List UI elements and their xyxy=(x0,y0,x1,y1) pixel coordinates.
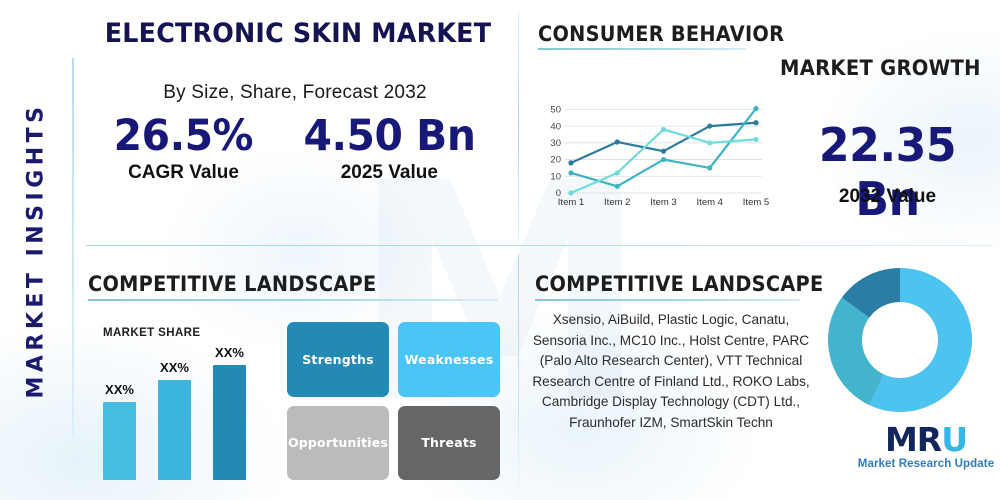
svg-text:30: 30 xyxy=(550,138,561,149)
svg-text:Item 3: Item 3 xyxy=(650,197,676,208)
donut-segments xyxy=(828,268,972,412)
donut-segment-2 xyxy=(828,298,884,405)
svg-text:10: 10 xyxy=(550,171,561,182)
stat-2025-value: 4.50 Bn xyxy=(303,114,475,159)
swot-matrix: StrengthsWeaknessesOpportunitiesThreats xyxy=(287,322,500,480)
market-share-donut-chart xyxy=(826,266,974,419)
market-growth-label: 2032 Value xyxy=(780,186,995,208)
consumer-behavior-line-chart: 01020304050 Item 1Item 2Item 3Item 4Item… xyxy=(535,95,770,218)
market-share-bar-chart: XX%XX%XX% xyxy=(103,345,268,480)
market-share-bar-2: XX% xyxy=(158,345,191,480)
line-chart-svg: 01020304050 Item 1Item 2Item 3Item 4Item… xyxy=(535,95,770,213)
market-share-title: MARKET SHARE xyxy=(103,327,200,339)
horizontal-divider xyxy=(86,245,992,246)
svg-text:Item 5: Item 5 xyxy=(743,197,769,208)
swot-cell-threats[interactable]: Threats xyxy=(398,406,500,481)
line-chart-x-tick-labels: Item 1Item 2Item 3Item 4Item 5 xyxy=(558,197,769,208)
logo-mark-accent: U xyxy=(941,420,967,459)
svg-text:Item 2: Item 2 xyxy=(604,197,630,208)
vertical-divider-bottom xyxy=(518,255,519,487)
rail-label: MARKET INSIGHTS xyxy=(24,102,49,398)
logo-wordmark: MRU xyxy=(885,423,967,457)
swot-cell-weaknesses[interactable]: Weaknesses xyxy=(398,322,500,397)
swot-cell-strengths[interactable]: Strengths xyxy=(287,322,389,397)
market-insights-rail: MARKET INSIGHTS xyxy=(0,0,72,500)
market-share-bar-1: XX% xyxy=(103,345,136,480)
market-share-bar-label-2: XX% xyxy=(160,360,189,375)
svg-text:Item 4: Item 4 xyxy=(697,197,723,208)
section-heading-competitive-landscape-right: COMPETITIVE LANDSCAPE xyxy=(535,272,823,296)
section-rule-competitive-landscape-left xyxy=(88,299,498,301)
page-title: ELECTRONIC SKIN MARKET xyxy=(101,18,496,49)
market-share-bar-rect-1 xyxy=(103,402,136,480)
market-share-bar-3: XX% xyxy=(213,345,246,480)
market-share-bar-rect-2 xyxy=(158,380,191,480)
line-chart-series xyxy=(568,106,758,196)
rail-divider xyxy=(72,58,74,438)
svg-text:Item 1: Item 1 xyxy=(558,197,584,208)
svg-text:50: 50 xyxy=(550,105,561,116)
stat-2025-label: 2025 Value xyxy=(299,162,480,184)
section-heading-consumer-behavior: CONSUMER BEHAVIOR xyxy=(538,22,784,46)
stat-2025: 4.50 Bn 2025 Value xyxy=(299,114,480,184)
hero-stats-block: By Size, Share, Forecast 2032 26.5% CAGR… xyxy=(80,82,510,184)
market-share-bar-label-3: XX% xyxy=(215,345,244,360)
infographic-canvas: M MARKET INSIGHTS ELECTRONIC SKIN MARKET… xyxy=(0,0,1000,500)
section-rule-consumer-behavior xyxy=(538,48,746,50)
stat-cagr: 26.5% CAGR Value xyxy=(110,114,257,184)
logo-mark-primary: MR xyxy=(885,420,941,459)
company-list: Xsensio, AiBuild, Plastic Logic, Canatu,… xyxy=(530,310,812,433)
section-rule-competitive-landscape-right xyxy=(535,299,800,301)
market-growth-value: 22.35 Bn xyxy=(784,118,990,226)
market-share-bar-label-1: XX% xyxy=(105,382,134,397)
page-subtitle: By Size, Share, Forecast 2032 xyxy=(80,82,510,104)
vertical-divider-top xyxy=(518,12,519,240)
section-heading-competitive-landscape-left: COMPETITIVE LANDSCAPE xyxy=(88,272,376,296)
svg-text:40: 40 xyxy=(550,121,561,132)
donut-chart-svg xyxy=(826,266,974,414)
logo-tagline: Market Research Update xyxy=(856,458,996,470)
market-share-bar-rect-3 xyxy=(213,365,246,480)
brand-logo: MRU Market Research Update xyxy=(856,423,996,470)
svg-text:20: 20 xyxy=(550,155,561,166)
market-growth-heading: MARKET GROWTH xyxy=(780,56,981,80)
line-chart-y-tick-labels: 01020304050 xyxy=(550,105,561,200)
stat-cagr-value: 26.5% xyxy=(114,114,253,159)
swot-cell-opportunities[interactable]: Opportunities xyxy=(287,406,389,481)
stat-cagr-label: CAGR Value xyxy=(110,162,257,184)
